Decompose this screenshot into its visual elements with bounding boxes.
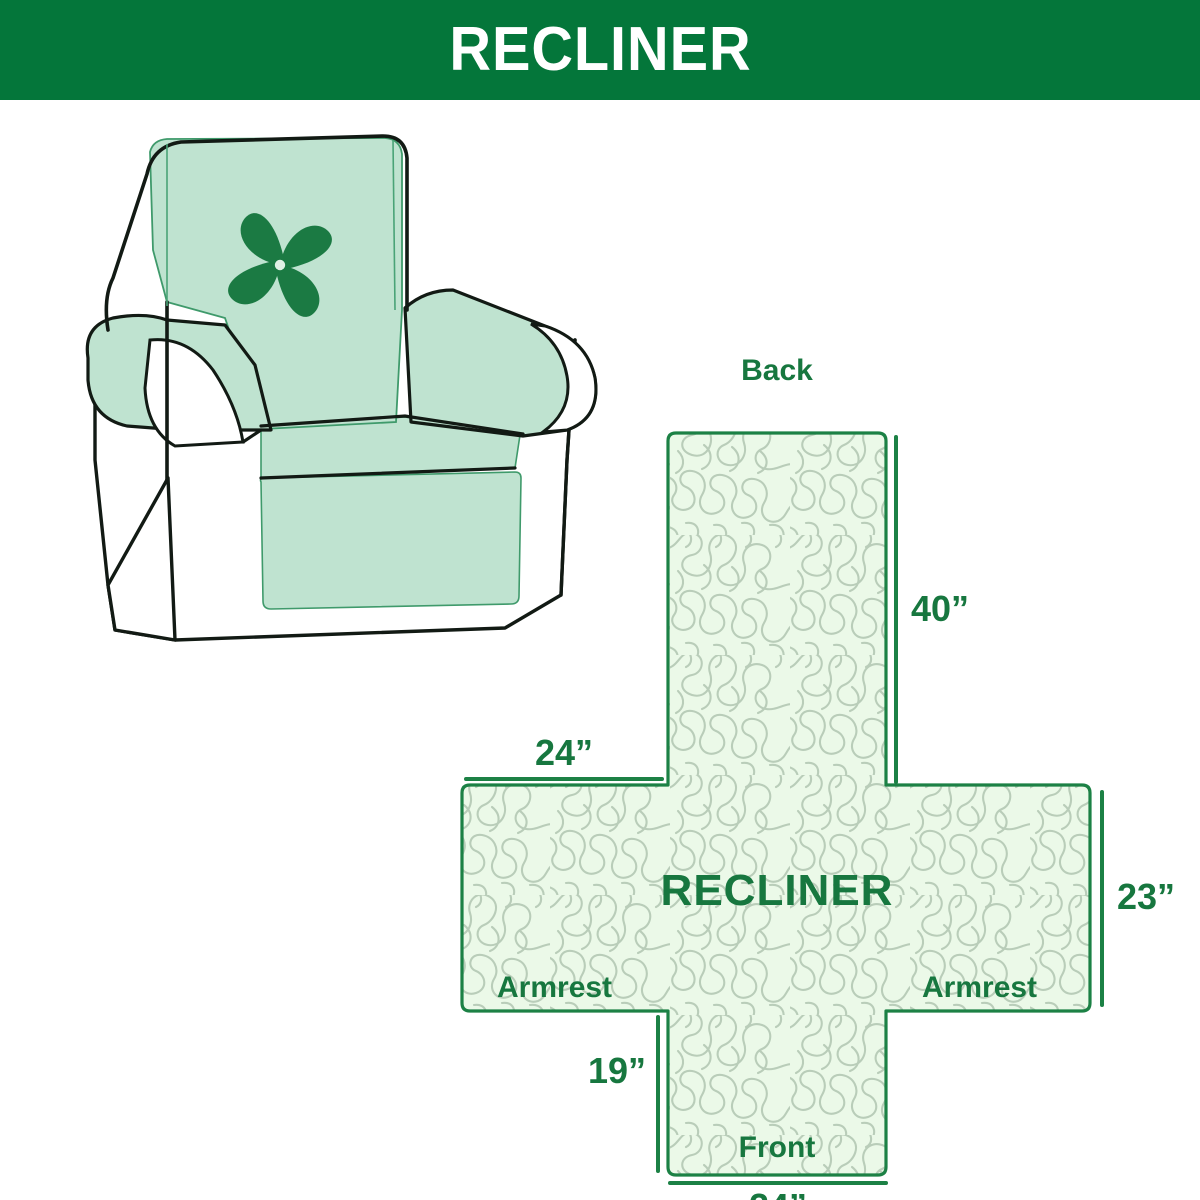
header-banner: RECLINER — [0, 0, 1200, 100]
page-title: RECLINER — [449, 19, 751, 81]
cover-cross-shape — [462, 433, 1090, 1175]
dimension-seat-depth: 23” — [1102, 792, 1175, 1005]
svg-text:24”: 24” — [749, 1186, 807, 1200]
cover-layout-diagram: Back RECLINER Armrest Armrest Front 40” — [430, 295, 1190, 1195]
svg-text:23”: 23” — [1117, 876, 1175, 917]
dimension-back-height: 40” — [896, 437, 969, 782]
panel-label-front: Front — [739, 1131, 816, 1164]
dimension-front-height: 19” — [588, 1017, 658, 1171]
dimension-armrest-width: 24” — [466, 732, 662, 779]
panel-label-armrest-right: Armrest — [922, 971, 1037, 1004]
dimension-front-width: 24” — [670, 1183, 886, 1200]
panel-label-armrest-left: Armrest — [497, 971, 612, 1004]
svg-text:40”: 40” — [911, 588, 969, 629]
svg-text:24”: 24” — [535, 732, 593, 773]
diagram-stage: Back RECLINER Armrest Armrest Front 40” — [0, 100, 1200, 1200]
panel-label-back: Back — [741, 354, 813, 387]
product-label-recliner: RECLINER — [661, 866, 894, 915]
svg-text:19”: 19” — [588, 1050, 646, 1091]
